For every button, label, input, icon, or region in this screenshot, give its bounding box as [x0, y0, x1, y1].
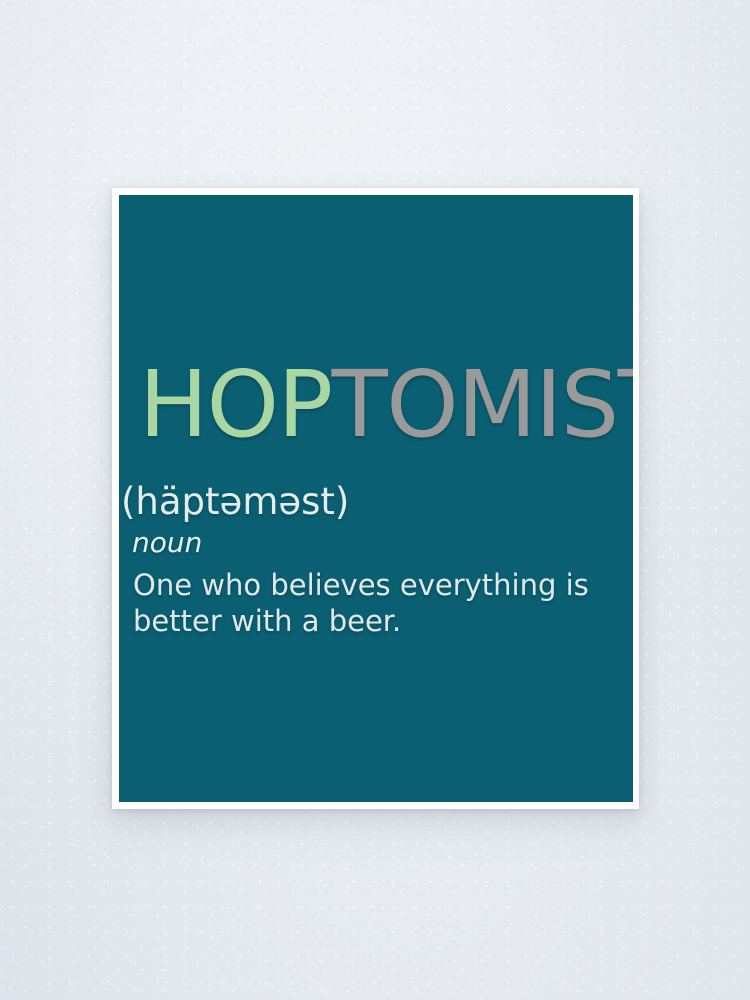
poster-artwork: HOPTOMIST (häptəməst) noun One who belie…	[119, 195, 633, 802]
poster-scene: HOPTOMIST (häptəməst) noun One who belie…	[0, 0, 750, 1000]
poster-part-of-speech: noun	[132, 529, 202, 557]
poster-definition: One who believes everything is better wi…	[133, 567, 593, 640]
headline-highlight: HOP	[139, 351, 332, 458]
headline-remainder: TOMIST	[332, 351, 633, 458]
poster-phonetic: (häptəməst)	[121, 483, 349, 520]
definition-line-2: better with a beer.	[133, 603, 593, 639]
framed-poster[interactable]: HOPTOMIST (häptəməst) noun One who belie…	[112, 188, 639, 809]
definition-line-1: One who believes everything is	[133, 567, 593, 603]
poster-headline: HOPTOMIST	[139, 363, 633, 448]
